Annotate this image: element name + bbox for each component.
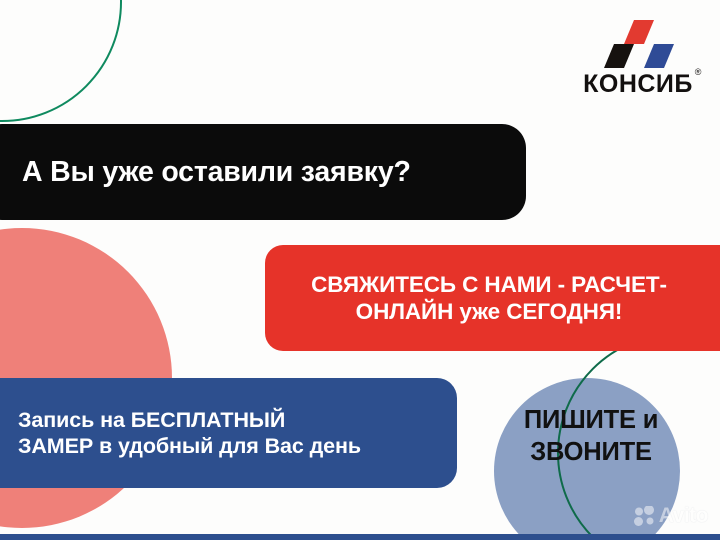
banner-contact-line-2: ОНЛАЙН уже СЕГОДНЯ!: [287, 298, 691, 325]
brand-logo: КОНСИБ ®: [572, 18, 704, 97]
banner-question: А Вы уже оставили заявку?: [0, 124, 526, 220]
banner-contact: СВЯЖИТЕСЬ С НАМИ - РАСЧЕТ- ОНЛАЙН уже СЕ…: [265, 245, 720, 351]
banner-question-text: А Вы уже оставили заявку?: [22, 155, 504, 190]
avito-dots-icon: [634, 506, 656, 526]
banner-measurement-line-2: ЗАМЕР в удобный для Вас день: [18, 433, 437, 459]
callout-line-2: ЗВОНИТЕ: [489, 436, 693, 468]
bottom-accent-strip: [0, 534, 720, 540]
avito-wordmark: Avito: [659, 504, 708, 528]
banner-contact-text: СВЯЖИТЕСЬ С НАМИ - РАСЧЕТ- ОНЛАЙН уже СЕ…: [287, 271, 720, 326]
callout-contact-prompt: ПИШИТЕ и ЗВОНИТЕ: [489, 404, 693, 468]
registered-trademark-icon: ®: [695, 68, 702, 77]
banner-measurement-line-1: Запись на БЕСПЛАТНЫЙ: [18, 407, 437, 433]
brand-name-text: КОНСИБ: [583, 70, 693, 98]
green-ring-decoration-top: [0, 0, 122, 122]
logo-wordmark: КОНСИБ ®: [583, 72, 693, 97]
logo-mark-icon: [572, 18, 704, 70]
banner-measurement-text: Запись на БЕСПЛАТНЫЙ ЗАМЕР в удобный для…: [18, 407, 437, 459]
banner-measurement: Запись на БЕСПЛАТНЫЙ ЗАМЕР в удобный для…: [0, 378, 457, 488]
callout-line-1: ПИШИТЕ и: [489, 404, 693, 436]
avito-watermark: Avito: [634, 504, 708, 528]
promo-poster: КОНСИБ ® А Вы уже оставили заявку? СВЯЖИ…: [0, 0, 720, 540]
banner-contact-line-1: СВЯЖИТЕСЬ С НАМИ - РАСЧЕТ-: [287, 271, 691, 298]
